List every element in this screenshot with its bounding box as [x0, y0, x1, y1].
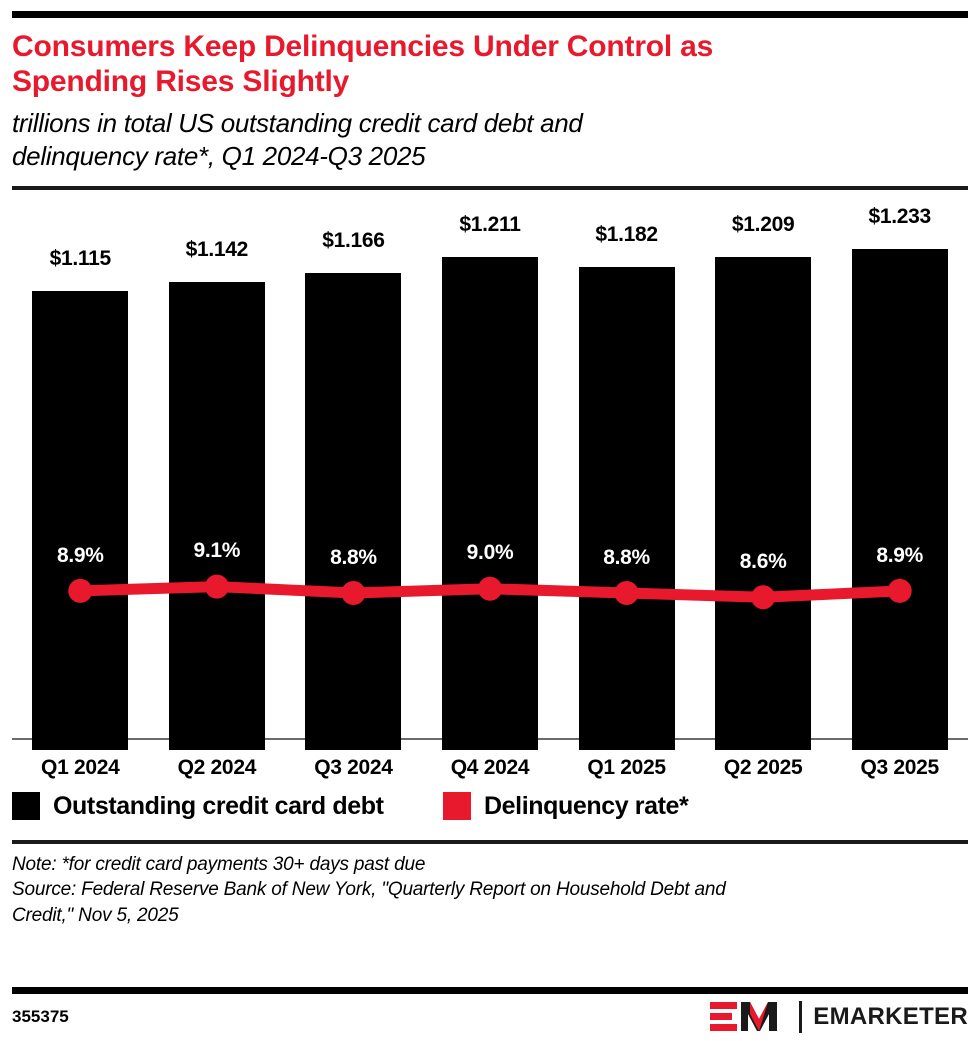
delinquency-line-series	[12, 190, 968, 750]
legend-label-debt: Outstanding credit card debt	[53, 792, 384, 821]
note-text: Note: *for credit card payments 30+ days…	[12, 852, 968, 878]
x-axis-category-labels: Q1 2024Q2 2024Q3 2024Q4 2024Q1 2025Q2 20…	[12, 750, 968, 786]
x-axis-label: Q1 2024	[12, 756, 149, 780]
legend-label-delinquency: Delinquency rate*	[484, 792, 688, 821]
page-title: Consumers Keep Delinquencies Under Contr…	[12, 29, 968, 99]
chart-legend: Outstanding credit card debt Delinquency…	[12, 792, 968, 834]
x-axis-label: Q2 2024	[149, 756, 286, 780]
x-axis-label: Q3 2025	[831, 756, 968, 780]
page-subtitle: trillions in total US outstanding credit…	[12, 107, 968, 173]
legend-item-debt[interactable]: Outstanding credit card debt	[12, 792, 384, 821]
source-text: Source: Federal Reserve Bank of New York…	[12, 877, 968, 928]
delinquency-data-point[interactable]	[478, 576, 502, 600]
top-rule-divider	[12, 11, 968, 18]
red-square-swatch-icon	[443, 792, 471, 820]
x-axis-label: Q1 2025	[558, 756, 695, 780]
chart-id-number: 355375	[12, 1007, 69, 1027]
notes-divider	[12, 840, 968, 844]
delinquency-data-point[interactable]	[68, 579, 92, 603]
notes-block: Note: *for credit card payments 30+ days…	[12, 852, 968, 929]
black-square-swatch-icon	[12, 792, 40, 820]
x-axis-label: Q2 2025	[695, 756, 832, 780]
delinquency-data-point[interactable]	[341, 581, 365, 605]
chart-page: Consumers Keep Delinquencies Under Contr…	[0, 11, 980, 1041]
legend-item-delinquency[interactable]: Delinquency rate*	[443, 792, 688, 821]
em-logo-icon	[710, 1001, 788, 1033]
delinquency-data-point[interactable]	[751, 585, 775, 609]
brand-name-text: EMARKETER	[813, 1003, 968, 1031]
x-axis-label: Q4 2024	[422, 756, 559, 780]
delinquency-data-point[interactable]	[205, 574, 229, 598]
delinquency-data-point[interactable]	[888, 579, 912, 603]
chart-canvas: $1.1158.9%$1.1429.1%$1.1668.8%$1.2119.0%…	[12, 190, 968, 750]
brand-divider-rule	[799, 1001, 802, 1033]
delinquency-data-point[interactable]	[615, 581, 639, 605]
footer-divider	[12, 987, 968, 994]
x-axis-label: Q3 2024	[285, 756, 422, 780]
brand-lockup: EMARKETER	[710, 1000, 968, 1034]
